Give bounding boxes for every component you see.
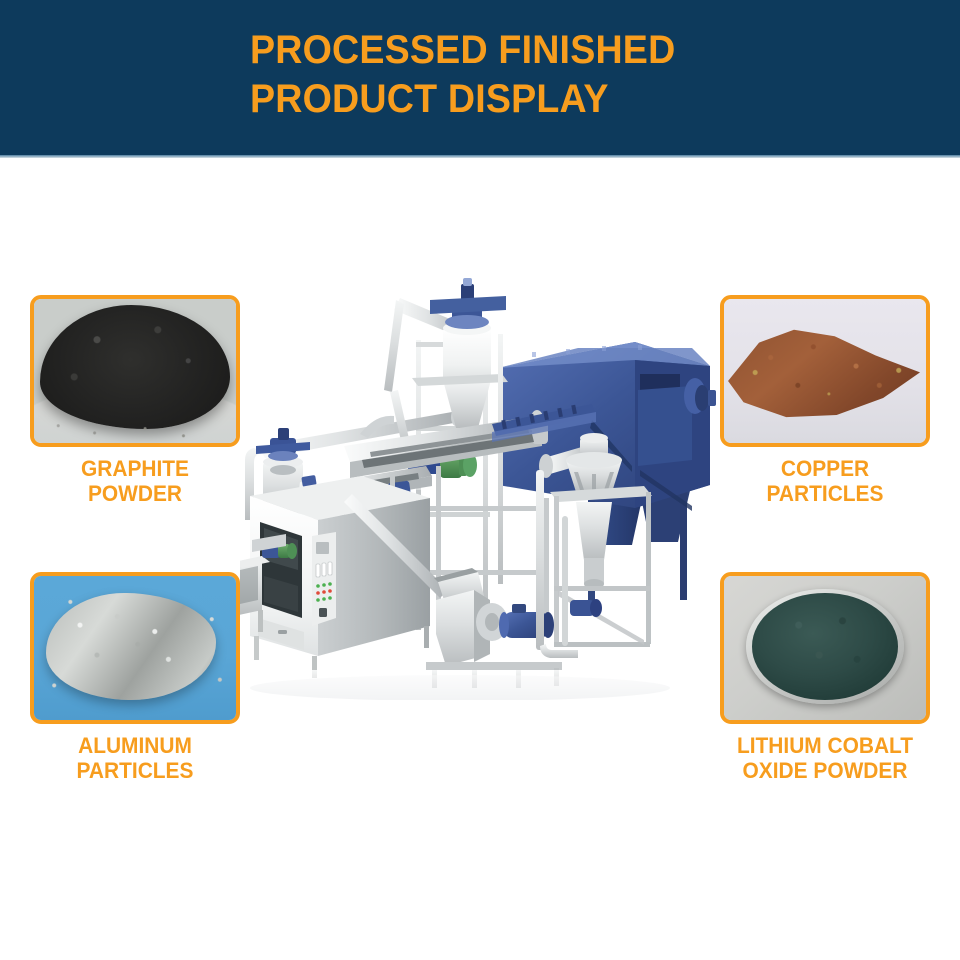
product-label-aluminum-particles: ALUMINUM PARTICLES <box>35 733 235 783</box>
header-banner: PROCESSED FINISHED PRODUCT DISPLAY <box>0 0 960 155</box>
product-card-copper-particles[interactable]: COPPER PARTICLES <box>720 295 930 506</box>
product-image-frame <box>30 572 240 724</box>
graphite-powder-photo <box>34 299 236 443</box>
product-label-copper-particles: COPPER PARTICLES <box>725 456 925 506</box>
product-image-frame <box>30 295 240 447</box>
copper-particles-photo <box>724 299 926 443</box>
product-card-aluminum-particles[interactable]: ALUMINUM PARTICLES <box>30 572 240 783</box>
product-card-lithium-cobalt-oxide-powder[interactable]: LITHIUM COBALT OXIDE POWDER <box>720 572 930 783</box>
product-label-lithium-cobalt-oxide-powder: LITHIUM COBALT OXIDE POWDER <box>725 733 925 783</box>
machine-illustration <box>240 270 720 700</box>
aluminum-particles-photo <box>34 576 236 720</box>
product-image-frame <box>720 572 930 724</box>
banner-divider <box>0 155 960 158</box>
lithium-cobalt-oxide-powder-photo <box>724 576 926 720</box>
control-cabinet[interactable] <box>250 476 430 678</box>
product-label-graphite-powder: GRAPHITE POWDER <box>35 456 235 506</box>
product-image-frame <box>720 295 930 447</box>
page-title: PROCESSED FINISHED PRODUCT DISPLAY <box>250 26 833 124</box>
product-card-graphite-powder[interactable]: GRAPHITE POWDER <box>30 295 240 506</box>
